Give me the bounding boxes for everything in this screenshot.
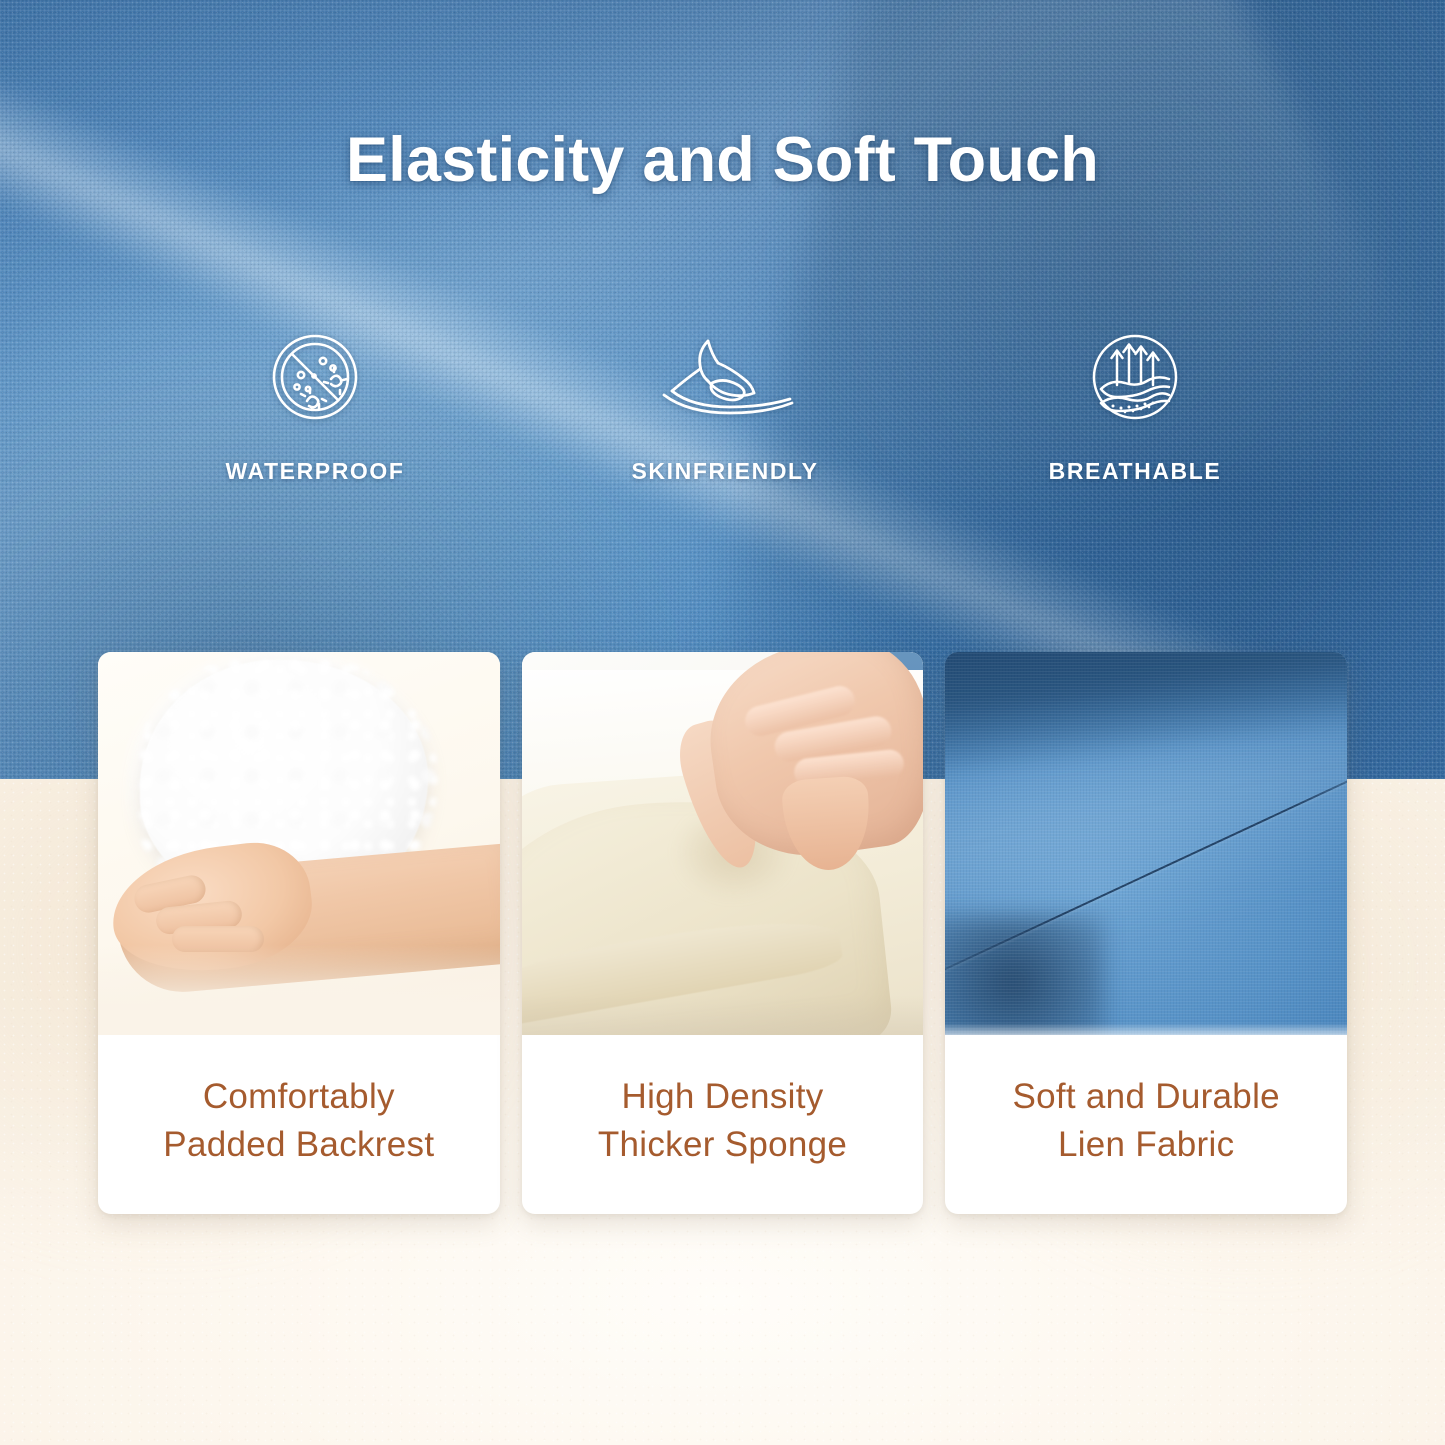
card-caption: Comfortably Padded Backrest: [98, 1035, 500, 1214]
card-caption-line-2: Thicker Sponge: [598, 1124, 847, 1165]
air-flow-through-fabric-breathable-icon: [1081, 318, 1189, 436]
feature-card-lien-fabric: Soft and Durable Lien Fabric: [945, 652, 1347, 1214]
feature-card-thicker-sponge: High Density Thicker Sponge: [522, 652, 924, 1214]
no-germs-waterproof-icon: [261, 318, 369, 436]
feature-label-breathable: BREATHABLE: [1049, 458, 1222, 485]
card-caption-line-1: High Density: [622, 1076, 824, 1117]
feature-card-padded-backrest: Comfortably Padded Backrest: [98, 652, 500, 1214]
card-caption: High Density Thicker Sponge: [522, 1035, 924, 1214]
feature-breathable: BREATHABLE: [970, 318, 1300, 485]
blue-linen-cushion-closeup-photo: [945, 652, 1347, 1035]
feature-icon-row: WATERPROOF: [150, 318, 1300, 485]
feature-card-row: Comfortably Padded Backrest: [98, 652, 1347, 1214]
card-caption-line-1: Soft and Durable: [1012, 1076, 1279, 1117]
feature-skinfriendly: SKINFRIENDLY: [560, 318, 890, 485]
photo-bottom-fade: [945, 1023, 1347, 1035]
page-title: Elasticity and Soft Touch: [0, 124, 1445, 196]
feature-label-waterproof: WATERPROOF: [225, 458, 404, 485]
linen-weave-texture: [945, 652, 1347, 1035]
card-caption: Soft and Durable Lien Fabric: [945, 1035, 1347, 1214]
card-caption-line-2: Lien Fabric: [1058, 1124, 1234, 1165]
card-caption-line-2: Padded Backrest: [163, 1124, 434, 1165]
photo-bottom-fade: [522, 995, 924, 1035]
hand-holding-white-fiberfill-photo: [98, 652, 500, 1035]
hand-pressing-cream-foam-photo: [522, 652, 924, 1035]
product-feature-banner: Elasticity and Soft Touch: [0, 0, 1445, 1445]
hand-touching-fabric-skinfriendly-icon: [650, 318, 800, 436]
card-caption-line-1: Comfortably: [203, 1076, 395, 1117]
feature-waterproof: WATERPROOF: [150, 318, 480, 485]
feature-label-skinfriendly: SKINFRIENDLY: [631, 458, 818, 485]
photo-bottom-fade: [98, 945, 500, 1035]
